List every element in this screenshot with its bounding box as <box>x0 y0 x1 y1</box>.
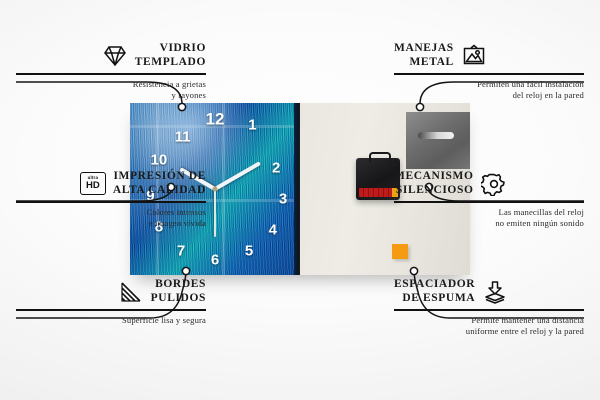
hanger-slot <box>418 132 454 139</box>
feature-manejas-metal[interactable]: MANEJAS METAL Permiten una fácil instala… <box>394 42 584 101</box>
clock-numeral-10: 10 <box>151 152 168 167</box>
clock-numeral-12: 12 <box>206 111 225 128</box>
clock-numeral-7: 7 <box>177 243 185 258</box>
foam-spacer <box>392 244 408 259</box>
clock-numeral-2: 2 <box>272 161 280 176</box>
feature-title-line1: VIDRIO <box>160 42 206 54</box>
metal-hanger-plate <box>406 112 470 169</box>
feature-desc-line1: Colores intensos <box>147 207 206 217</box>
feature-title-line2: METAL <box>409 56 453 68</box>
clock-numeral-11: 11 <box>175 130 191 145</box>
feature-desc-line1: Resistencia a grietas <box>133 79 206 89</box>
feature-title-line2: TEMPLADO <box>135 56 206 68</box>
feature-desc-line2: uniforme entre el reloj y la pared <box>466 326 584 336</box>
feature-desc-line2: y rayones <box>171 90 206 100</box>
polished-edge-icon <box>118 280 144 304</box>
clock-numeral-6: 6 <box>211 252 219 267</box>
feature-vidrio-templado[interactable]: VIDRIO TEMPLADO Resistencia a grietas y … <box>16 42 206 101</box>
divider <box>16 309 206 311</box>
feature-title-line2: DE ESPUMA <box>402 292 475 304</box>
feature-title-line1: ESPACIADOR <box>394 278 475 290</box>
feature-desc-line2: del reloj en la pared <box>513 90 584 100</box>
feature-desc-line1: Superficie lisa y segura <box>122 315 206 325</box>
clock-numeral-4: 4 <box>269 223 277 238</box>
feature-bordes-pulidos[interactable]: BORDES PULIDOS Superficie lisa y segura <box>16 278 206 326</box>
ultra-hd-icon: ultra HD <box>80 172 106 196</box>
feature-title-line2: SILENCIOSO <box>396 184 474 196</box>
foam-spacer-icon <box>482 280 508 304</box>
divider <box>16 201 206 203</box>
feature-title-line1: MANEJAS <box>394 42 454 54</box>
feature-desc-line1: Permite mantener una distancia <box>471 315 584 325</box>
feature-espaciador-de-espuma[interactable]: ESPACIADOR DE ESPUMA Permite mantener un… <box>394 278 584 337</box>
gear-icon <box>481 172 507 196</box>
infographic-canvas: 12 1 2 3 4 5 6 7 8 9 10 11 <box>0 0 600 400</box>
divider <box>16 73 206 75</box>
feature-title-line1: MECANISMO <box>394 170 474 182</box>
diamond-icon <box>102 44 128 68</box>
feature-desc-line1: Las manecillas del reloj <box>499 207 584 217</box>
feature-title-line1: BORDES <box>155 278 206 290</box>
feature-desc-line2: no emiten ningún sonido <box>495 218 584 228</box>
picture-frame-icon <box>461 44 487 68</box>
feature-desc-line2: e imagen vívida <box>149 218 206 228</box>
clock-numeral-3: 3 <box>279 192 287 207</box>
clock-second-hand <box>215 189 217 237</box>
feature-mecanismo-silencioso[interactable]: MECANISMO SILENCIOSO Las manecillas del … <box>394 170 584 229</box>
feature-title-line2: ALTA CALIDAD <box>113 184 206 196</box>
feature-desc-line1: Permiten una fácil instalación <box>477 79 584 89</box>
divider <box>394 309 584 311</box>
movement-shaft <box>369 152 391 162</box>
divider <box>394 73 584 75</box>
clock-numeral-5: 5 <box>245 243 253 258</box>
feature-title-line2: PULIDOS <box>151 292 206 304</box>
divider <box>394 201 584 203</box>
clock-numeral-1: 1 <box>248 118 256 133</box>
feature-impresion-alta-calidad[interactable]: ultra HD IMPRESIÓN DE ALTA CALIDAD Color… <box>16 170 206 229</box>
ultra-hd-large-label: HD <box>86 181 100 191</box>
feature-title-line1: IMPRESIÓN DE <box>113 170 206 182</box>
clock-hand-cap <box>213 187 218 192</box>
